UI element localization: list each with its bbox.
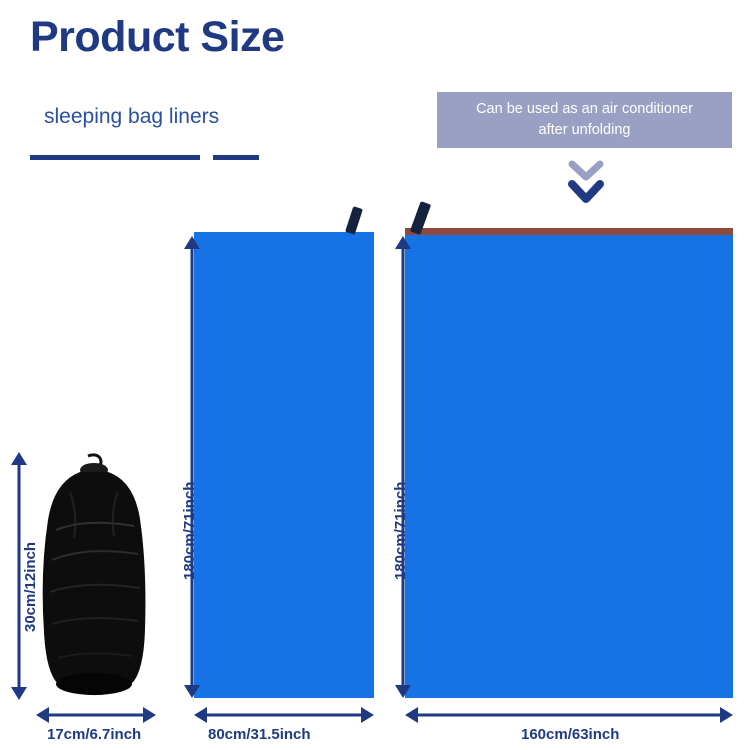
product-size-infographic: Product Size sleeping bag liners Can be …	[0, 0, 750, 750]
folded-liner-width-label: 80cm/31.5inch	[208, 726, 311, 743]
unfolded-liner-panel	[405, 228, 733, 698]
sack-width-arrow	[36, 705, 156, 725]
page-subtitle: sleeping bag liners	[44, 105, 219, 129]
folded-liner-height-label: 180cm/71inch	[181, 482, 198, 580]
unfolded-liner-top-edge	[405, 228, 733, 235]
sack-height-label: 30cm/12inch	[22, 542, 39, 632]
page-title: Product Size	[30, 14, 284, 61]
unfolded-liner-height-label: 180cm/71inch	[392, 482, 409, 580]
sack-width-label: 17cm/6.7inch	[47, 726, 141, 743]
folded-liner-panel	[194, 232, 374, 698]
unfolded-liner-width-label: 160cm/63inch	[521, 726, 619, 743]
folded-liner-tab	[345, 206, 363, 235]
folded-liner-height-arrow	[181, 236, 203, 698]
callout-banner: Can be used as an air conditioner after …	[437, 92, 732, 148]
double-chevron-down-icon	[568, 160, 604, 206]
packed-stuff-sack	[36, 452, 154, 698]
unfolded-liner-width-arrow	[405, 705, 733, 725]
title-underline-short	[213, 155, 259, 160]
callout-line-2: after unfolding	[539, 120, 631, 141]
unfolded-liner-height-arrow	[392, 236, 414, 698]
callout-line-1: Can be used as an air conditioner	[476, 99, 693, 120]
title-underline-long	[30, 155, 200, 160]
folded-liner-width-arrow	[194, 705, 374, 725]
